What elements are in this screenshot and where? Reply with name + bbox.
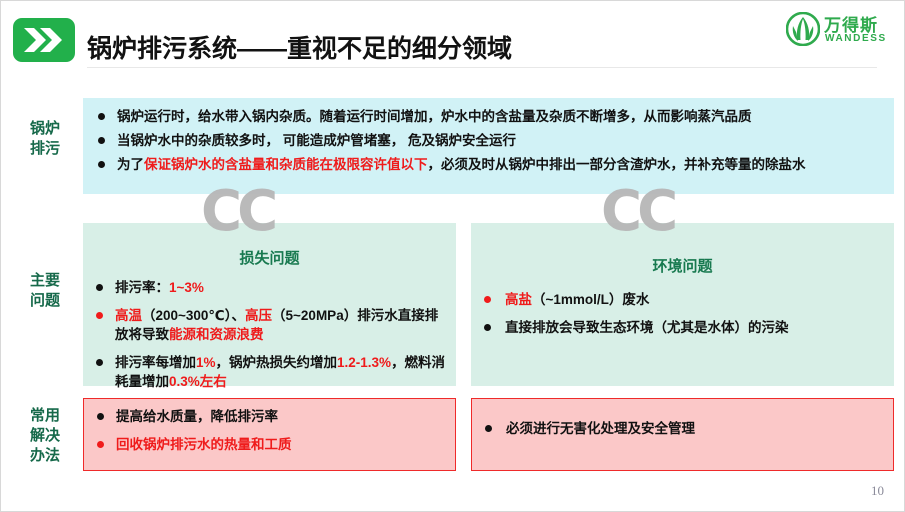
bullet-text-segment: 1.2-1.3% — [337, 355, 391, 370]
row-label-main-problems: 主要 问题 — [15, 271, 75, 311]
panel-environment-problems: 环境问题 高盐（~1mmol/L）废水直接排放会导致生态环境（尤其是水体）的污染 — [471, 223, 894, 386]
bullet-item: 当锅炉水中的杂质较多时， 可能造成炉管堵塞， 危及锅炉安全运行 — [95, 131, 882, 150]
company-logo: 万得斯 WANDESS — [786, 9, 892, 51]
bullet-text-segment: 提高给水质量，降低排污率 — [116, 409, 278, 424]
bullet-dot-icon — [484, 324, 491, 331]
page-number: 10 — [871, 483, 884, 499]
bullet-dot-icon — [98, 161, 105, 168]
bullet-dot-icon — [485, 425, 492, 432]
row-label-boiler: 锅炉 排污 — [15, 119, 75, 159]
row-label-problems-line1: 主要 — [15, 271, 75, 291]
bullet-text-segment: （~1mmol/L）废水 — [532, 292, 649, 307]
bullet-text-segment: （200~300℃）、 — [142, 308, 245, 323]
panel-solutions-loss: 提高给水质量，降低排污率回收锅炉排污水的热量和工质 — [83, 398, 456, 471]
bullet-text-segment: 当锅炉水中的杂质较多时， 可能造成炉管堵塞， 危及锅炉安全运行 — [117, 133, 516, 148]
bullet-list-loss: 排污率：1~3%高温（200~300℃）、高压（5~20MPa）排污水直接排放将… — [93, 278, 446, 391]
bullet-text-segment: 高盐 — [505, 292, 532, 307]
wandess-leaf-icon — [786, 12, 820, 46]
row-label-problems-line2: 问题 — [15, 291, 75, 311]
bullet-item: 锅炉运行时，给水带入锅内杂质。随着运行时间增加，炉水中的含盐量及杂质不断增多，从… — [95, 107, 882, 126]
logo-english-name: WANDESS — [825, 33, 887, 44]
bullet-text-segment: 保证锅炉水的含盐量和杂质能在极限容许值以下 — [144, 157, 428, 172]
bullet-text-segment: 排污率每增加 — [115, 355, 196, 370]
bullet-text-segment: 回收锅炉排污水的热量和工质 — [116, 437, 292, 452]
bullet-text-segment: 锅炉运行时，给水带入锅内杂质。随着运行时间增加，炉水中的含盐量及杂质不断增多，从… — [117, 109, 752, 124]
panel-solutions-environment: 必须进行无害化处理及安全管理 — [471, 398, 894, 471]
panel-loss-problems: 损失问题 排污率：1~3%高温（200~300℃）、高压（5~20MPa）排污水… — [83, 223, 456, 386]
bullet-text-segment: 1% — [196, 355, 216, 370]
row-label-common-solutions: 常用 解决 办法 — [15, 406, 75, 466]
bullet-text-segment: ，必须及时从锅炉中排出一部分含渣炉水，并补充等量的除盐水 — [428, 157, 806, 172]
bullet-item: 排污率：1~3% — [93, 278, 446, 297]
bullet-list-environment: 高盐（~1mmol/L）废水直接排放会导致生态环境（尤其是水体）的污染 — [481, 290, 884, 337]
bullet-text-segment: 直接排放会导致生态环境（尤其是水体）的污染 — [505, 320, 789, 335]
bullet-item: 高温（200~300℃）、高压（5~20MPa）排污水直接排放将导致能源和资源浪… — [93, 306, 446, 344]
bullet-text-segment: ，锅炉热损失约增加 — [216, 355, 338, 370]
bullet-text-segment: 排污率： — [115, 280, 169, 295]
bullet-list-solutions-loss: 提高给水质量，降低排污率回收锅炉排污水的热量和工质 — [94, 407, 445, 454]
bullet-dot-icon — [96, 312, 103, 319]
panel-environment-heading: 环境问题 — [481, 255, 884, 276]
watermark-cc-right: CC — [601, 179, 673, 244]
bullet-item: 回收锅炉排污水的热量和工质 — [94, 435, 445, 454]
bullet-item: 高盐（~1mmol/L）废水 — [481, 290, 884, 309]
panel-loss-heading: 损失问题 — [93, 247, 446, 268]
bullet-list-boiler: 锅炉运行时，给水带入锅内杂质。随着运行时间增加，炉水中的含盐量及杂质不断增多，从… — [95, 107, 882, 174]
watermark-cc-left: CC — [201, 179, 273, 244]
bullet-dot-icon — [484, 296, 491, 303]
bullet-item: 直接排放会导致生态环境（尤其是水体）的污染 — [481, 318, 884, 337]
double-chevron-icon — [13, 18, 75, 62]
bullet-dot-icon — [96, 359, 103, 366]
bullet-item: 必须进行无害化处理及安全管理 — [482, 419, 883, 438]
bullet-text-segment: 1~3% — [169, 280, 204, 295]
bullet-text-segment: 必须进行无害化处理及安全管理 — [506, 421, 695, 436]
bullet-dot-icon — [98, 137, 105, 144]
bullet-text-segment: 能源和资源浪费 — [169, 327, 264, 342]
bullet-dot-icon — [97, 441, 104, 448]
row-label-solutions-line3: 办法 — [15, 446, 75, 466]
bullet-text-segment: 0.3%左右 — [169, 374, 227, 389]
bullet-dot-icon — [96, 284, 103, 291]
bullet-list-solutions-environment: 必须进行无害化处理及安全管理 — [482, 419, 883, 438]
slide-canvas: 锅炉排污系统——重视不足的细分领域 万得斯 WANDESS 锅炉 排污 锅炉运行… — [0, 0, 905, 512]
row-label-solutions-line2: 解决 — [15, 426, 75, 446]
title-divider — [87, 67, 877, 68]
bullet-text-segment: 高温 — [115, 308, 142, 323]
bullet-item: 排污率每增加1%，锅炉热损失约增加1.2-1.3%，燃料消耗量增加0.3%左右 — [93, 353, 446, 391]
slide-header: 锅炉排污系统——重视不足的细分领域 万得斯 WANDESS — [1, 1, 905, 81]
bullet-dot-icon — [97, 413, 104, 420]
bullet-item: 提高给水质量，降低排污率 — [94, 407, 445, 426]
row-label-solutions-line1: 常用 — [15, 406, 75, 426]
row-label-boiler-line2: 排污 — [15, 139, 75, 159]
bullet-text-segment: 为了 — [117, 157, 144, 172]
page-title: 锅炉排污系统——重视不足的细分领域 — [87, 29, 512, 65]
bullet-item: 为了保证锅炉水的含盐量和杂质能在极限容许值以下，必须及时从锅炉中排出一部分含渣炉… — [95, 155, 882, 174]
bullet-text-segment: 高压 — [245, 308, 272, 323]
bullet-dot-icon — [98, 113, 105, 120]
row-label-boiler-line1: 锅炉 — [15, 119, 75, 139]
